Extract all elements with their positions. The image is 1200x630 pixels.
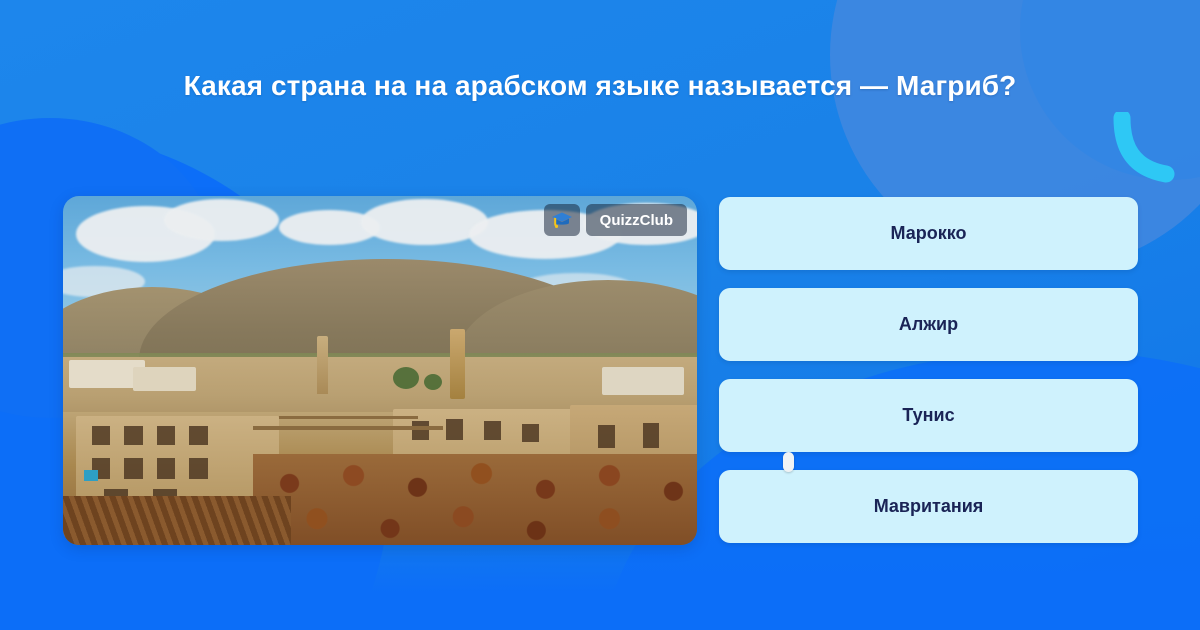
graduation-cap-icon [544, 204, 580, 236]
photo-cloud [361, 199, 488, 244]
answer-option-4[interactable]: Мавритания [719, 470, 1138, 543]
answer-option-2[interactable]: Алжир [719, 288, 1138, 361]
photo-building [133, 367, 196, 391]
scroll-pill[interactable] [783, 452, 794, 472]
question-title-bar: Какая страна на на арабском языке называ… [0, 70, 1200, 102]
photo-scaffolding [63, 496, 291, 545]
photo-building [602, 367, 684, 395]
answer-option-label: Алжир [899, 314, 958, 335]
photo-minaret [317, 336, 328, 394]
answer-option-1[interactable]: Марокко [719, 197, 1138, 270]
brand-badge[interactable]: QuizzClub [544, 204, 687, 236]
cyan-hook-icon [1110, 112, 1180, 190]
photo-cloud [164, 199, 278, 241]
brand-name: QuizzClub [586, 204, 687, 236]
question-image: QuizzClub [63, 196, 697, 545]
answer-option-3[interactable]: Тунис [719, 379, 1138, 452]
photo-minaret [450, 329, 465, 399]
photo-tannery-pits [253, 454, 697, 545]
photo-roofline [253, 426, 443, 430]
answer-options-list: Марокко Алжир Тунис Мавритания [719, 197, 1138, 543]
photo-tree [393, 367, 419, 389]
answer-option-label: Марокко [891, 223, 967, 244]
answer-option-label: Тунис [902, 405, 954, 426]
page-title: Какая страна на на арабском языке называ… [184, 70, 1017, 102]
answer-option-label: Мавритания [874, 496, 984, 517]
photo-roofline [279, 416, 418, 419]
